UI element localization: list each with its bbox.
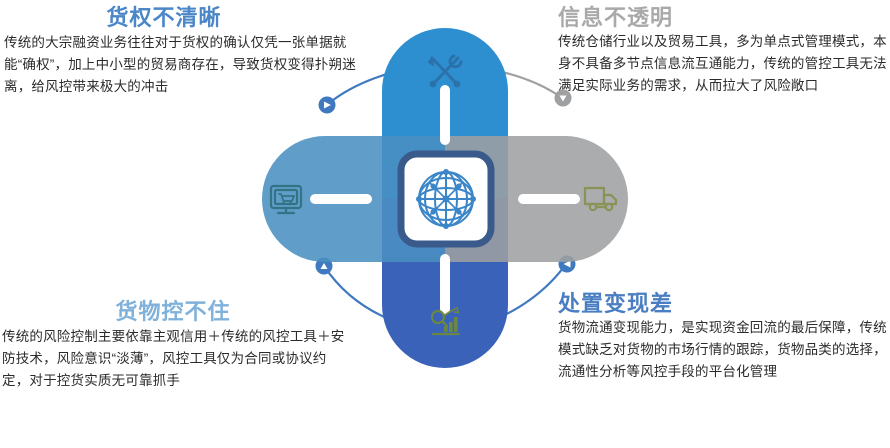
infographic-canvas: 货权不清晰 传统的大宗融资业务往往对于货权的确认仅凭一张单据就能“确权”，加上中… (0, 0, 890, 448)
central-cross-graphic (262, 28, 628, 368)
connector-top-left-marker (319, 97, 336, 114)
stub-left (310, 194, 372, 204)
stub-top (440, 85, 450, 145)
panel-top-left-title: 货权不清晰 (0, 6, 334, 29)
panel-top-right-title: 信息不透明 (558, 6, 890, 29)
connector-top-right-marker (555, 90, 572, 107)
stub-bottom (440, 254, 450, 314)
stub-right (518, 194, 580, 204)
center-node (401, 154, 491, 244)
